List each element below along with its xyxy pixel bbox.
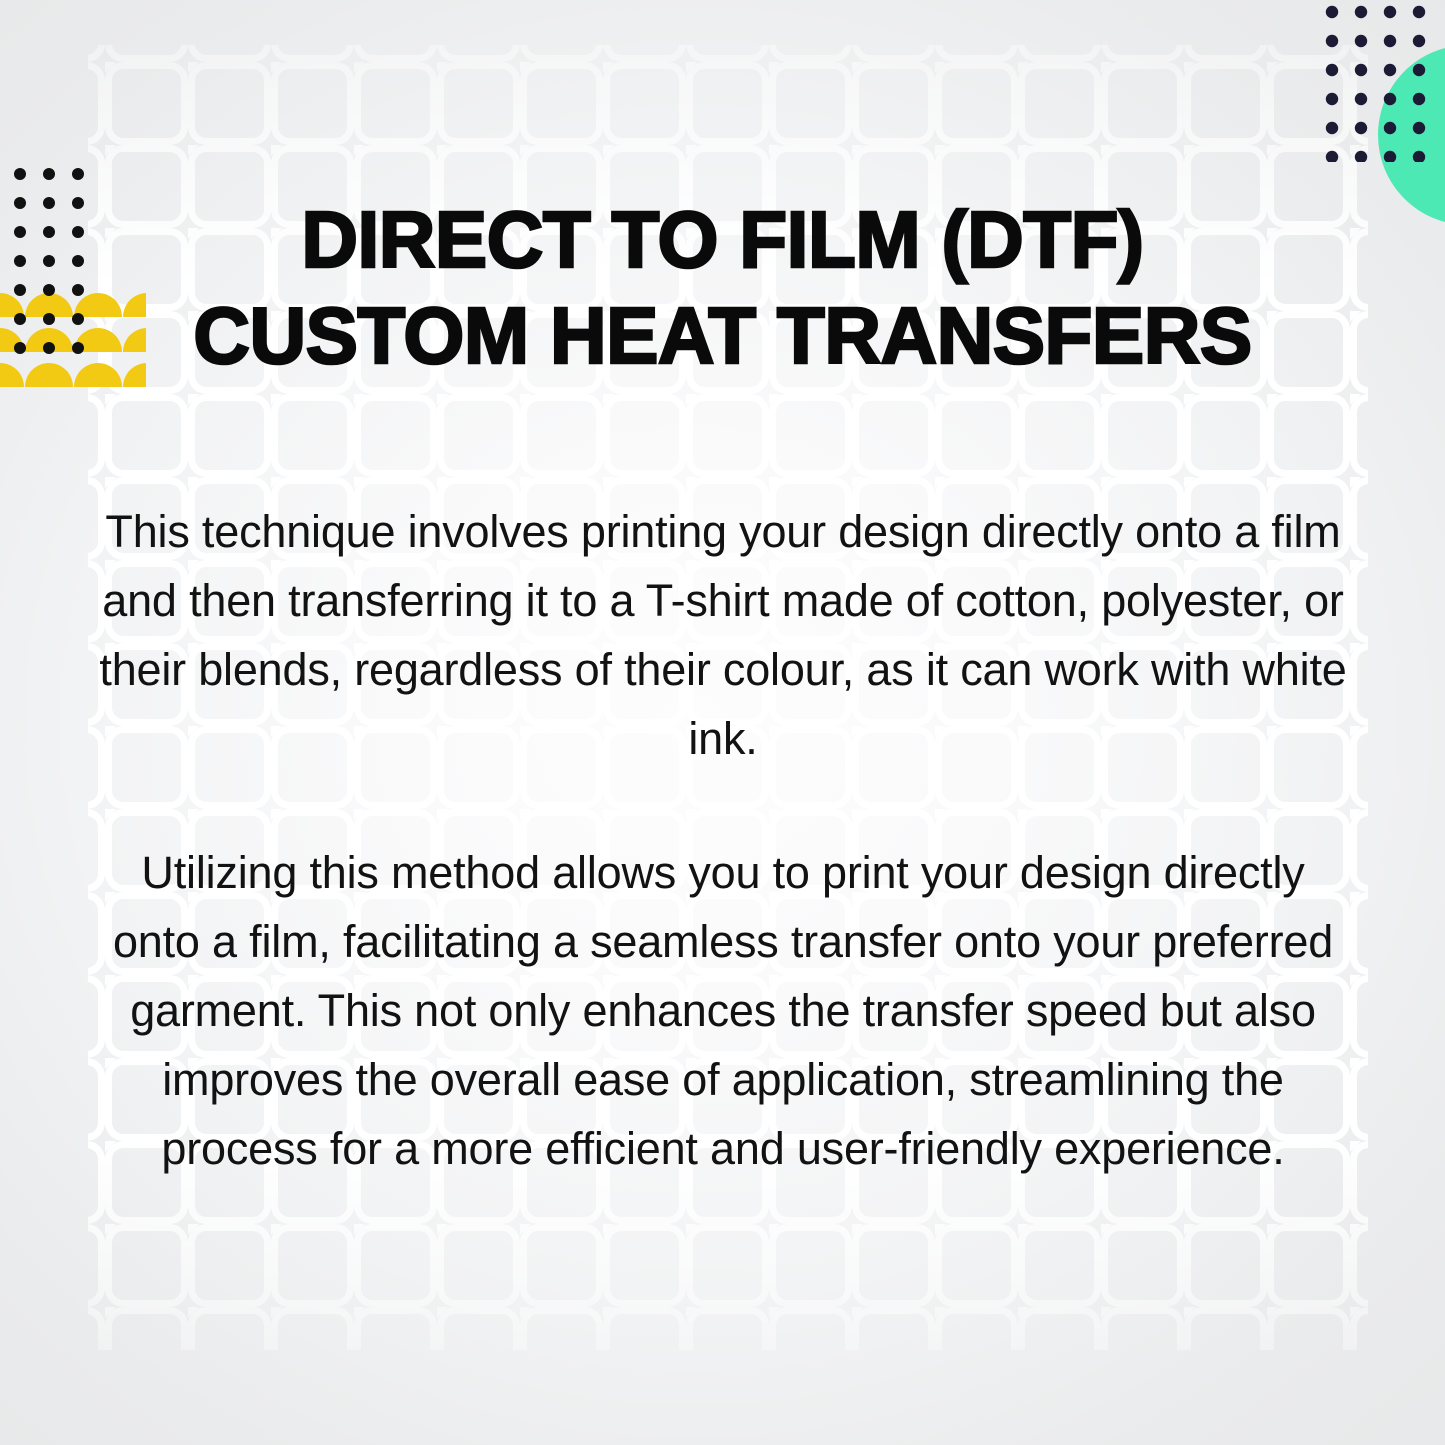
poster-content: DIRECT TO FILM (DTF) CUSTOM HEAT TRANSFE… bbox=[0, 0, 1445, 1445]
body-paragraph-1: This technique involves printing your de… bbox=[92, 497, 1354, 773]
poster-canvas: DIRECT TO FILM (DTF) CUSTOM HEAT TRANSFE… bbox=[0, 0, 1445, 1445]
page-title-line-2: CUSTOM HEAT TRANSFERS bbox=[14, 288, 1430, 384]
body-paragraph-2: Utilizing this method allows you to prin… bbox=[92, 838, 1354, 1183]
page-title: DIRECT TO FILM (DTF) CUSTOM HEAT TRANSFE… bbox=[14, 192, 1430, 384]
page-title-line-1: DIRECT TO FILM (DTF) bbox=[14, 192, 1430, 288]
